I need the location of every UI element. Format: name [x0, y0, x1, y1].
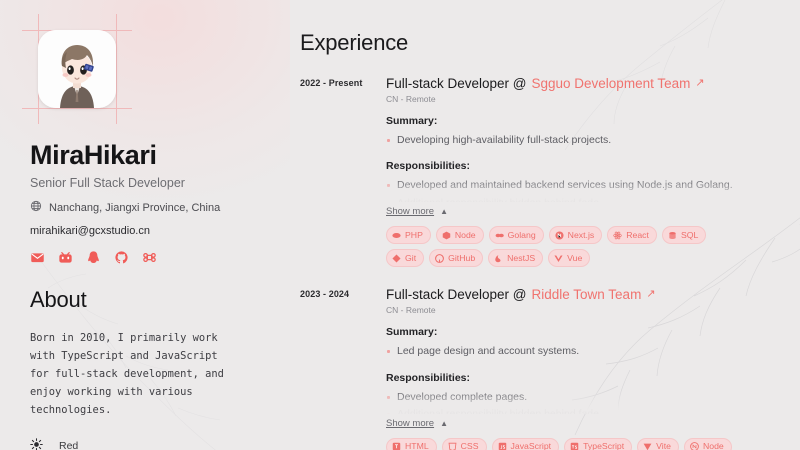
- entry-dates: 2023 - 2024: [300, 287, 386, 450]
- list-item: Developing high-availability full-stack …: [386, 132, 770, 149]
- job-title-row: Full-stack Developer @ Riddle Town Team …: [386, 287, 770, 302]
- profile-location: Nanchang, Jiangxi Province, China: [30, 200, 290, 215]
- company-link[interactable]: Sgguo Development Team: [532, 76, 691, 91]
- profile-sidebar: MiraHikari Senior Full Stack Developer N…: [0, 0, 290, 450]
- golang-icon: [495, 231, 504, 240]
- github-icon: [435, 254, 444, 263]
- react-icon: [613, 231, 622, 240]
- tech-tag[interactable]: TypeScript: [564, 438, 632, 450]
- crop-guide-horizontal-bottom: [22, 108, 132, 109]
- summary-list: Developing high-availability full-stack …: [386, 132, 770, 149]
- node-icon: [690, 442, 699, 450]
- job-title: Full-stack Developer @: [386, 76, 527, 91]
- list-item: Developed complete pages.: [386, 389, 770, 406]
- tech-tag[interactable]: HTML: [386, 438, 437, 450]
- tech-tag-list: HTML CSS JavaScript TypeScript Vite Node…: [386, 438, 736, 450]
- tech-tag[interactable]: Node: [684, 438, 732, 450]
- responsibilities-list: Developed and maintained backend service…: [386, 177, 770, 202]
- list-item: Led page design and account systems.: [386, 343, 770, 360]
- experience-entry: 2022 - Present Full-stack Developer @ Sg…: [300, 76, 770, 267]
- social-links: [30, 250, 290, 265]
- css-icon: [448, 442, 457, 450]
- tech-tag[interactable]: SQL: [662, 226, 706, 244]
- tech-tag[interactable]: PHP: [386, 226, 431, 244]
- vite-icon: [643, 442, 652, 450]
- profile-name: MiraHikari: [30, 140, 290, 171]
- javascript-icon: [498, 442, 507, 450]
- nextjs-icon: [555, 231, 564, 240]
- vue-icon: [554, 254, 563, 263]
- typescript-icon: [570, 442, 579, 450]
- sun-icon: [30, 438, 43, 450]
- git-icon: [392, 254, 401, 263]
- list-item: Additional responsibility hidden behind …: [386, 406, 770, 414]
- about-heading: About: [30, 287, 290, 313]
- tech-tag[interactable]: GitHub: [429, 249, 483, 267]
- tech-tag[interactable]: Vue: [548, 249, 590, 267]
- qq-icon[interactable]: [86, 250, 101, 265]
- chevron-up-icon: ▲: [440, 419, 448, 428]
- entry-meta: CN - Remote: [386, 305, 770, 315]
- responsibilities-clip: Developed complete pages. Additional res…: [386, 384, 770, 414]
- summary-list: Led page design and account systems.: [386, 343, 770, 360]
- show-more-toggle[interactable]: Show more ▲: [386, 206, 770, 217]
- location-text: Nanchang, Jiangxi Province, China: [49, 202, 220, 214]
- company-link[interactable]: Riddle Town Team: [532, 287, 642, 302]
- github-icon[interactable]: [114, 250, 129, 265]
- list-item: Additional responsibility hidden behind …: [386, 195, 770, 203]
- show-more-toggle[interactable]: Show more ▲: [386, 418, 770, 429]
- responsibilities-label: Responsibilities:: [386, 372, 770, 384]
- command-icon[interactable]: [142, 250, 157, 265]
- html-icon: [392, 442, 401, 450]
- job-title-row: Full-stack Developer @ Sgguo Development…: [386, 76, 770, 91]
- responsibilities-label: Responsibilities:: [386, 160, 770, 172]
- external-link-icon[interactable]: ↗: [695, 78, 704, 89]
- experience-section: Experience 2022 - Present Full-stack Dev…: [290, 0, 800, 450]
- job-title: Full-stack Developer @: [386, 287, 527, 302]
- external-link-icon[interactable]: ↗: [646, 289, 655, 300]
- avatar-illustration: [38, 30, 116, 108]
- tech-tag[interactable]: Golang: [489, 226, 544, 244]
- bilibili-icon[interactable]: [58, 250, 73, 265]
- show-more-label: Show more: [386, 418, 434, 429]
- nestjs-icon: [494, 254, 503, 263]
- profile-role: Senior Full Stack Developer: [30, 176, 290, 190]
- tech-tag-list: PHP Node Golang Next.js React SQL Git Gi…: [386, 226, 736, 267]
- experience-entry: 2023 - 2024 Full-stack Developer @ Riddl…: [300, 287, 770, 450]
- tech-tag[interactable]: JavaScript: [492, 438, 560, 450]
- tech-tag[interactable]: Node: [436, 226, 484, 244]
- php-icon: [392, 231, 401, 240]
- summary-label: Summary:: [386, 115, 770, 127]
- avatar: [38, 30, 116, 108]
- responsibilities-list: Developed complete pages. Additional res…: [386, 389, 770, 414]
- theme-label: Red: [59, 440, 78, 450]
- tech-tag[interactable]: CSS: [442, 438, 487, 450]
- sql-icon: [668, 231, 677, 240]
- tech-tag[interactable]: Vite: [637, 438, 679, 450]
- entry-meta: CN - Remote: [386, 94, 770, 104]
- resume-page: MiraHikari Senior Full Stack Developer N…: [0, 0, 800, 450]
- responsibilities-clip: Developed and maintained backend service…: [386, 172, 770, 202]
- list-item: Developed and maintained backend service…: [386, 177, 770, 194]
- entry-dates: 2022 - Present: [300, 76, 386, 267]
- tech-tag[interactable]: Git: [386, 249, 424, 267]
- show-more-label: Show more: [386, 206, 434, 217]
- about-text: Born in 2010, I primarily work with Type…: [30, 330, 235, 419]
- globe-icon: [30, 200, 42, 215]
- tech-tag[interactable]: Next.js: [549, 226, 603, 244]
- avatar-frame: [30, 22, 124, 116]
- node-icon: [442, 231, 451, 240]
- experience-heading: Experience: [300, 30, 770, 56]
- tech-tag[interactable]: NestJS: [488, 249, 543, 267]
- chevron-up-icon: ▲: [440, 207, 448, 216]
- tech-tag[interactable]: React: [607, 226, 657, 244]
- summary-label: Summary:: [386, 326, 770, 338]
- mail-icon[interactable]: [30, 250, 45, 265]
- profile-email[interactable]: mirahikari@gcxstudio.cn: [30, 225, 290, 237]
- theme-switcher[interactable]: Red: [30, 438, 290, 450]
